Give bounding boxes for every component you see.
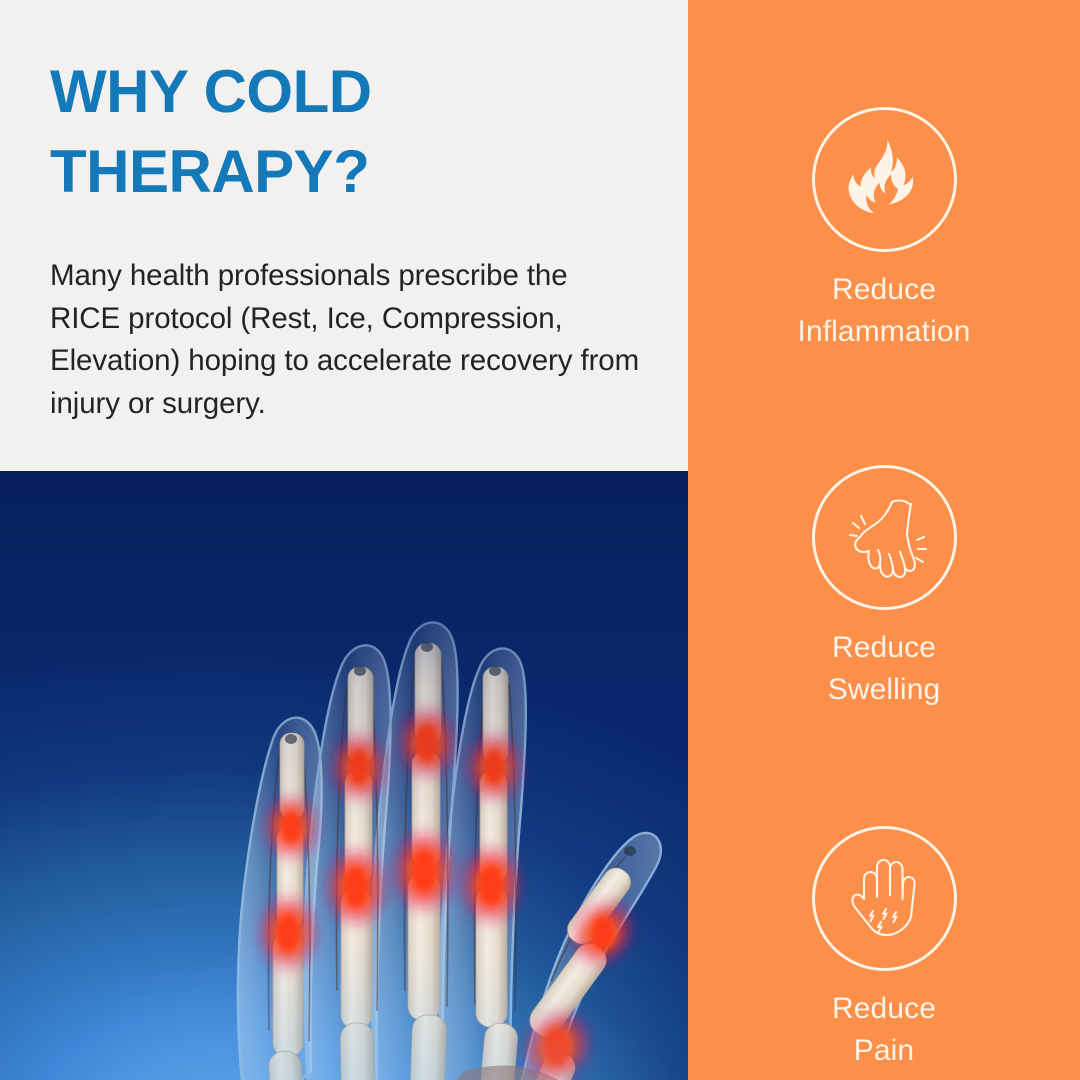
left-column: Why Cold Therapy? Many health profession… bbox=[0, 0, 688, 1080]
benefit-label: Reduce Pain bbox=[832, 988, 936, 1072]
benefit-icon-circle bbox=[812, 465, 957, 610]
anatomical-hand-photo bbox=[0, 471, 688, 1080]
hand-illustration bbox=[65, 471, 685, 1080]
benefit-item-inflammation: Reduce Inflammation bbox=[688, 107, 1080, 353]
swollen-hand-icon bbox=[838, 492, 930, 584]
hand-pain-icon bbox=[839, 853, 929, 945]
hand-anatomy-graphic bbox=[65, 471, 685, 1080]
intro-text-panel: Why Cold Therapy? Many health profession… bbox=[0, 0, 688, 471]
benefit-label: Reduce Inflammation bbox=[798, 269, 971, 353]
benefit-item-pain: Reduce Pain bbox=[688, 826, 1080, 1072]
benefit-icon-circle bbox=[812, 107, 957, 252]
flame-icon bbox=[847, 138, 921, 222]
benefit-icon-circle bbox=[812, 826, 957, 971]
benefit-item-swelling: Reduce Swelling bbox=[688, 465, 1080, 711]
benefit-label: Reduce Swelling bbox=[828, 627, 941, 711]
body-paragraph: Many health professionals prescribe the … bbox=[50, 255, 640, 426]
infographic-canvas: Why Cold Therapy? Many health profession… bbox=[0, 0, 1080, 1080]
page-title: Why Cold Therapy? bbox=[50, 52, 520, 213]
benefits-panel: Reduce Inflammation bbox=[688, 0, 1080, 1080]
